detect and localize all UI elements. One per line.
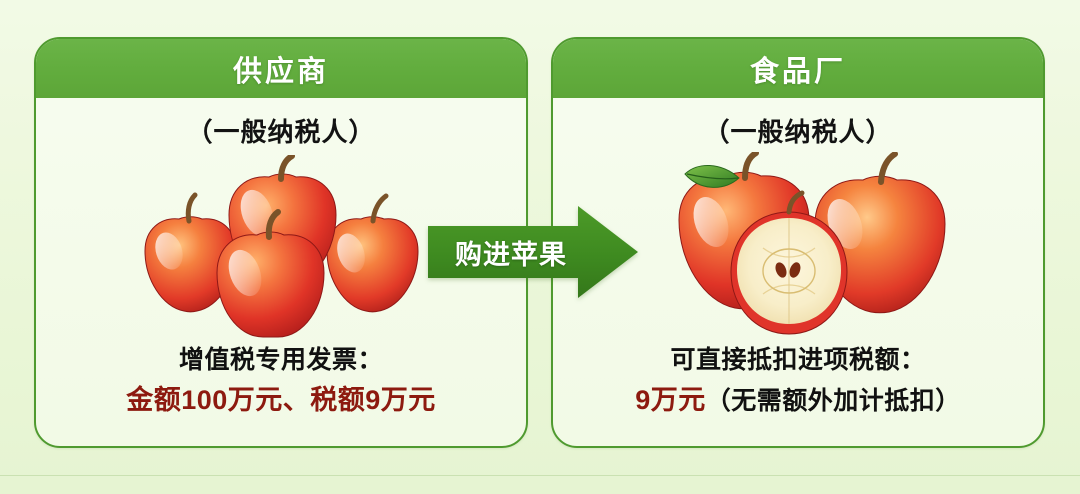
card-food-factory-footer-label: 可直接抵扣进项税额： — [553, 345, 1043, 376]
card-supplier-title: 供应商 — [233, 48, 329, 90]
card-supplier-footer: 增值税专用发票： 金额100万元、税额9万元 — [36, 345, 526, 446]
card-food-factory-subtitle: （一般纳税人） — [703, 112, 892, 149]
card-supplier-footer-value: 金额100万元、税额9万元 — [36, 384, 526, 418]
card-food-factory-footer-note: （无需额外加计抵扣） — [706, 387, 961, 415]
card-food-factory-footer-amount: 9万元 — [635, 385, 706, 415]
card-food-factory-footer: 可直接抵扣进项税额： 9万元（无需额外加计抵扣） — [553, 345, 1043, 446]
card-food-factory-title: 食品厂 — [750, 48, 846, 90]
arrow-right-icon — [428, 206, 638, 298]
four-red-apples-icon — [131, 155, 431, 340]
flow-arrow: 购进苹果 — [428, 206, 638, 298]
infographic-canvas: 供应商 （一般纳税人） — [0, 0, 1080, 494]
bottom-divider — [0, 475, 1080, 476]
card-food-factory-header: 食品厂 — [553, 39, 1043, 98]
card-food-factory-footer-value: 9万元（无需额外加计抵扣） — [553, 384, 1043, 418]
card-supplier-subtitle: （一般纳税人） — [186, 112, 375, 149]
two-apples-and-half-icon — [643, 152, 953, 342]
card-supplier-footer-label: 增值税专用发票： — [36, 345, 526, 376]
card-supplier-header: 供应商 — [36, 39, 526, 98]
